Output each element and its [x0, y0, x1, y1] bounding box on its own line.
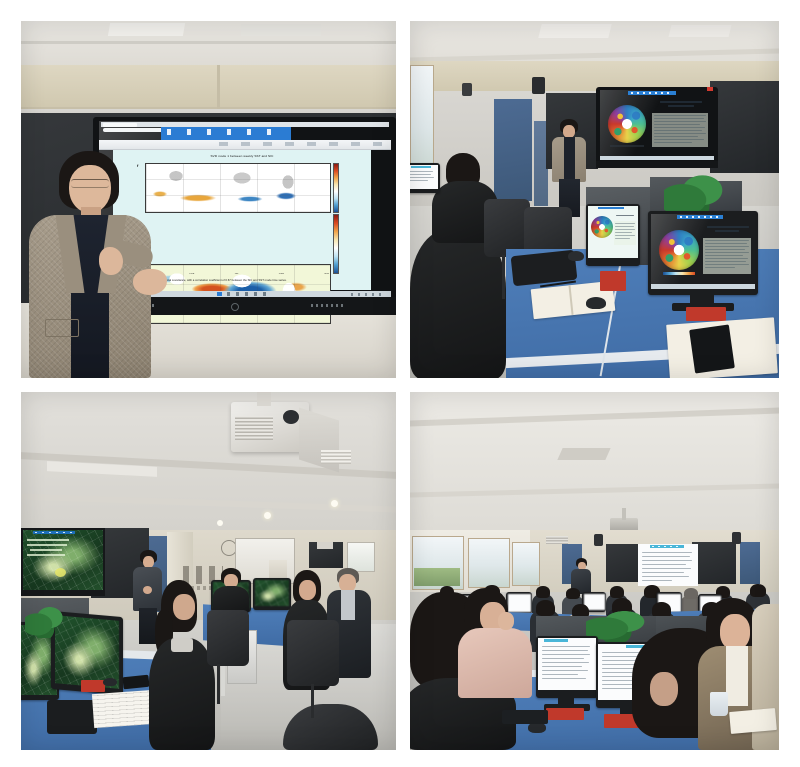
- monitor-a-screen[interactable]: [588, 206, 638, 258]
- toolbar-icon-group[interactable]: [167, 129, 285, 135]
- tick-120w: 120W: [278, 273, 284, 277]
- water-cup: [710, 692, 728, 716]
- ribbon-controls[interactable]: [219, 142, 387, 146]
- slide-header-icons: [631, 92, 673, 94]
- wall-panel-blue: [740, 542, 760, 584]
- antarctic-globe-figure: [659, 230, 699, 270]
- potted-plant: [25, 604, 65, 638]
- mouse[interactable]: [568, 251, 584, 261]
- monitor-b-taskbar[interactable]: [651, 284, 755, 289]
- downlight: [264, 512, 271, 519]
- ceiling-panel-1: [538, 24, 611, 38]
- attendee-fg-left-2: [462, 588, 536, 698]
- ceiling-tile-seam: [21, 41, 396, 44]
- mobile-phone[interactable]: [689, 324, 735, 373]
- wall-display-screen[interactable]: [600, 90, 714, 160]
- presenter-glasses: [71, 179, 109, 188]
- colorbar-sst: [333, 214, 339, 274]
- wall-display-lower-bezel: [596, 161, 718, 168]
- air-conditioner: [546, 536, 568, 544]
- slide-body-block: [652, 113, 708, 147]
- chair-leg: [502, 255, 505, 299]
- mouse[interactable]: [586, 297, 606, 309]
- keyboard[interactable]: [502, 710, 548, 724]
- display-status-led[interactable]: [707, 87, 713, 91]
- ceiling-light-recessed: [321, 450, 351, 464]
- display-model-text: [311, 304, 345, 307]
- taskbar-icons[interactable]: [227, 292, 267, 296]
- monitor-b-screen[interactable]: [651, 214, 755, 289]
- downlight: [331, 500, 338, 507]
- mouse-pad[interactable]: [546, 708, 584, 720]
- slide-title-block: [656, 101, 706, 109]
- standing-presenter: [550, 119, 590, 219]
- photo-top-left: SVD mode 1 between weekly SST and SIC f …: [21, 21, 396, 378]
- presenter-hand-right: [133, 269, 167, 295]
- presenter: [23, 151, 173, 378]
- slide-title-block: [705, 226, 751, 234]
- projector-lens: [283, 410, 299, 424]
- rear-projector: [317, 542, 333, 549]
- monitor-fg-2-base: [47, 700, 97, 734]
- collage-canvas: SVD mode 1 between weekly SST and SIC f …: [0, 0, 800, 767]
- slide-taskbar[interactable]: [600, 156, 714, 160]
- downlight: [217, 520, 223, 526]
- collar: [171, 638, 193, 652]
- speaker-icon: [532, 77, 545, 94]
- ceiling-light-strip: [557, 448, 610, 460]
- tick-60w: 60W: [324, 273, 329, 277]
- taskbar-start-icon[interactable]: [217, 292, 222, 296]
- paper-sheet[interactable]: [92, 690, 156, 728]
- ceiling-panel-2: [669, 25, 732, 37]
- chair-leg: [311, 684, 314, 718]
- slide-title: SVD mode 1 between weekly SST and SIC: [149, 154, 335, 158]
- mouse-pad[interactable]: [600, 271, 626, 291]
- window: [410, 65, 434, 179]
- presenter-face: [69, 165, 111, 213]
- app-tab[interactable]: [103, 123, 137, 127]
- photo-bottom-right: [410, 392, 779, 750]
- shirt: [341, 590, 355, 620]
- ceiling-light-panel: [108, 23, 185, 36]
- speaker-icon: [594, 534, 603, 546]
- mouse-pad[interactable]: [81, 680, 105, 692]
- speaker-icon: [462, 83, 472, 96]
- wall-board-right: [692, 542, 736, 584]
- tick-180: 180: [235, 273, 239, 277]
- projector-mount: [257, 392, 271, 406]
- projector-arm: [622, 508, 626, 520]
- monitor-left-screen[interactable]: [410, 165, 438, 189]
- colorbar-sic: [333, 163, 339, 213]
- presenter-hand-left: [99, 247, 123, 275]
- antarctic-globe-figure: [608, 105, 646, 143]
- projector-vent-grille: [235, 416, 273, 440]
- attendee-back-left: [213, 568, 249, 614]
- mouse-pad[interactable]: [686, 307, 726, 321]
- speaker-icon: [732, 532, 741, 544]
- tick-120e: 120E: [189, 273, 194, 277]
- mouse[interactable]: [103, 678, 117, 686]
- chair-leg: [217, 664, 220, 704]
- display-power-button[interactable]: [231, 303, 239, 311]
- presenter-pocket: [45, 319, 79, 337]
- ceiling-vent: [241, 24, 321, 36]
- photo-bottom-left: [21, 392, 396, 750]
- hand: [498, 612, 514, 630]
- wall-column-seam: [217, 65, 220, 111]
- globe-caption: [610, 145, 644, 147]
- photo-top-right: [410, 21, 779, 378]
- slide-body-block: [703, 238, 751, 274]
- attendee-foreground: [151, 580, 211, 750]
- chair: [207, 610, 249, 666]
- monitor-fg-1-screen[interactable]: [538, 638, 596, 690]
- inner-top: [726, 646, 748, 706]
- grid-lines: [146, 164, 330, 212]
- slide-text-cn: [27, 539, 71, 561]
- chair: [287, 620, 339, 686]
- map-highlight: [55, 568, 66, 577]
- taskbar-tray[interactable]: [351, 293, 385, 296]
- wall-board-right: [710, 81, 779, 173]
- globe-colorbar: [663, 272, 695, 275]
- notebook[interactable]: [729, 708, 777, 734]
- projection-screen-image[interactable]: [23, 530, 103, 590]
